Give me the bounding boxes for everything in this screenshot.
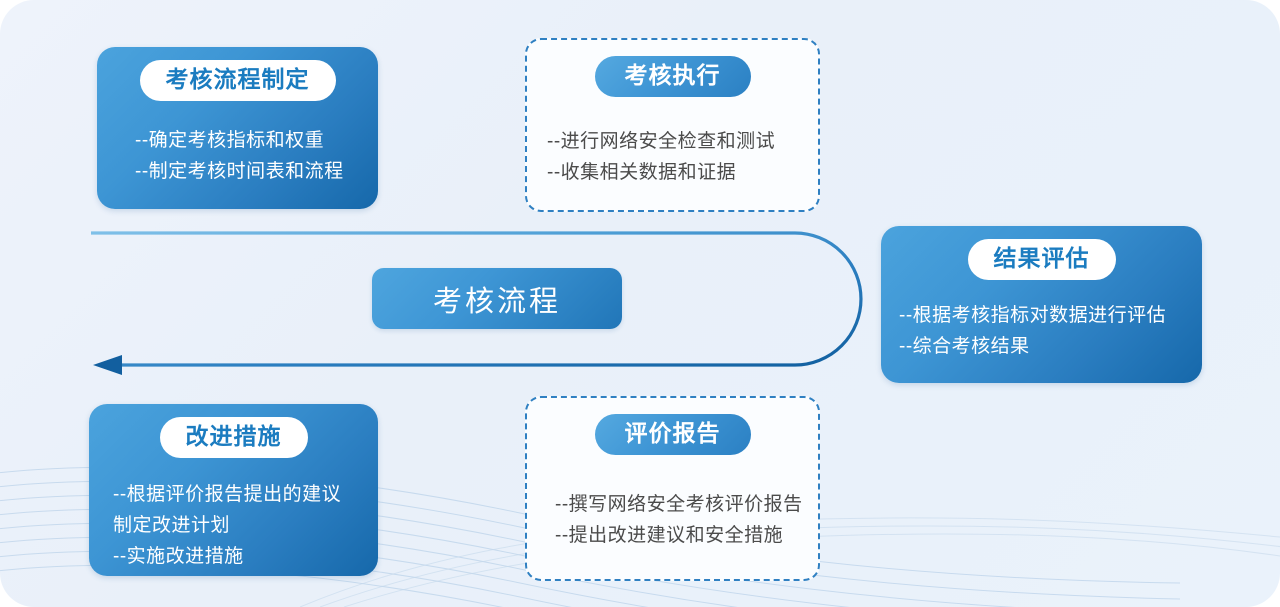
card-improve-line-1: --根据评价报告提出的建议 <box>113 480 341 511</box>
card-report-header: 评价报告 <box>527 398 818 455</box>
card-improve-line-2: 制定改进计划 <box>113 511 341 542</box>
card-report-line-1: --撰写网络安全考核评价报告 <box>555 490 803 521</box>
card-execute-header: 考核执行 <box>527 40 818 97</box>
card-improvement-measures[interactable]: 改进措施 --根据评价报告提出的建议 制定改进计划 --实施改进措施 <box>89 404 378 576</box>
card-result-header: 结果评估 <box>881 226 1202 280</box>
card-improve-body: --根据评价报告提出的建议 制定改进计划 --实施改进措施 <box>113 480 341 572</box>
card-evaluation-report[interactable]: 评价报告 --撰写网络安全考核评价报告 --提出改进建议和安全措施 <box>525 396 820 581</box>
card-process-line-2: --制定考核时间表和流程 <box>135 157 344 188</box>
card-execute-line-2: --收集相关数据和证据 <box>547 158 775 189</box>
card-improve-line-3: --实施改进措施 <box>113 542 341 573</box>
card-assessment-execution[interactable]: 考核执行 --进行网络安全检查和测试 --收集相关数据和证据 <box>525 38 820 212</box>
center-process-label[interactable]: 考核流程 <box>372 268 622 329</box>
card-result-line-1: --根据考核指标对数据进行评估 <box>899 301 1166 332</box>
card-process-body: --确定考核指标和权重 --制定考核时间表和流程 <box>135 126 344 188</box>
card-result-title: 结果评估 <box>968 239 1116 280</box>
card-process-definition[interactable]: 考核流程制定 --确定考核指标和权重 --制定考核时间表和流程 <box>97 47 378 209</box>
card-report-title: 评价报告 <box>595 414 751 455</box>
card-result-line-2: --综合考核结果 <box>899 332 1166 363</box>
card-execute-body: --进行网络安全检查和测试 --收集相关数据和证据 <box>547 127 775 189</box>
card-improve-header: 改进措施 <box>89 404 378 458</box>
card-result-evaluation[interactable]: 结果评估 --根据考核指标对数据进行评估 --综合考核结果 <box>881 226 1202 383</box>
card-process-title: 考核流程制定 <box>140 60 336 101</box>
card-result-body: --根据考核指标对数据进行评估 --综合考核结果 <box>899 301 1166 363</box>
card-report-body: --撰写网络安全考核评价报告 --提出改进建议和安全措施 <box>555 490 803 552</box>
card-execute-title: 考核执行 <box>595 56 751 97</box>
card-report-line-2: --提出改进建议和安全措施 <box>555 521 803 552</box>
card-execute-line-1: --进行网络安全检查和测试 <box>547 127 775 158</box>
flowchart-canvas: 考核流程制定 --确定考核指标和权重 --制定考核时间表和流程 考核执行 --进… <box>0 0 1280 607</box>
card-process-header: 考核流程制定 <box>97 47 378 101</box>
card-process-line-1: --确定考核指标和权重 <box>135 126 344 157</box>
card-improve-title: 改进措施 <box>160 417 308 458</box>
